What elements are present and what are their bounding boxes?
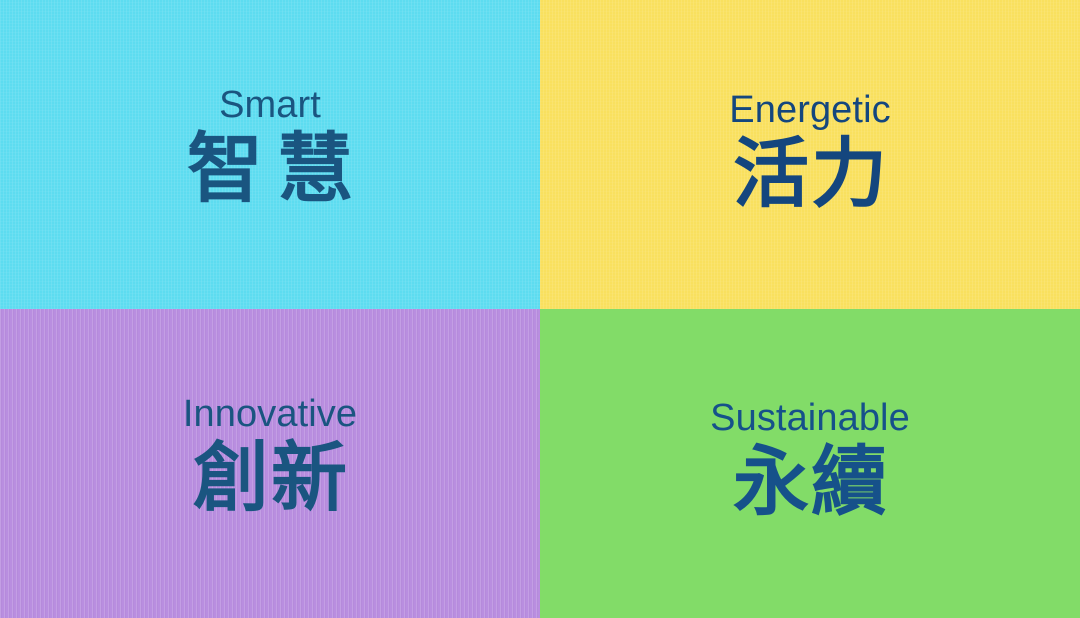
label-cjk-innovative: 創新 <box>191 440 349 516</box>
quadrant-sustainable: Sustainable 永續 <box>540 309 1080 618</box>
label-en-sustainable: Sustainable <box>710 399 910 439</box>
label-en-innovative: Innovative <box>183 395 357 435</box>
brand-values-grid: Smart 智慧 Energetic 活力 Innovative 創新 Sust… <box>0 0 1080 618</box>
label-cjk-sustainable: 永續 <box>731 444 889 520</box>
text-block-energetic: Energetic 活力 <box>729 91 890 213</box>
text-block-innovative: Innovative 創新 <box>183 395 357 517</box>
text-block-smart: Smart 智慧 <box>173 86 367 208</box>
quadrant-innovative: Innovative 創新 <box>0 309 540 618</box>
label-cjk-energetic: 活力 <box>731 136 889 212</box>
label-en-smart: Smart <box>219 86 321 126</box>
text-block-sustainable: Sustainable 永續 <box>710 399 910 521</box>
quadrant-smart: Smart 智慧 <box>0 0 540 309</box>
label-en-energetic: Energetic <box>729 91 890 131</box>
quadrant-energetic: Energetic 活力 <box>540 0 1080 309</box>
label-cjk-smart: 智慧 <box>173 131 367 207</box>
